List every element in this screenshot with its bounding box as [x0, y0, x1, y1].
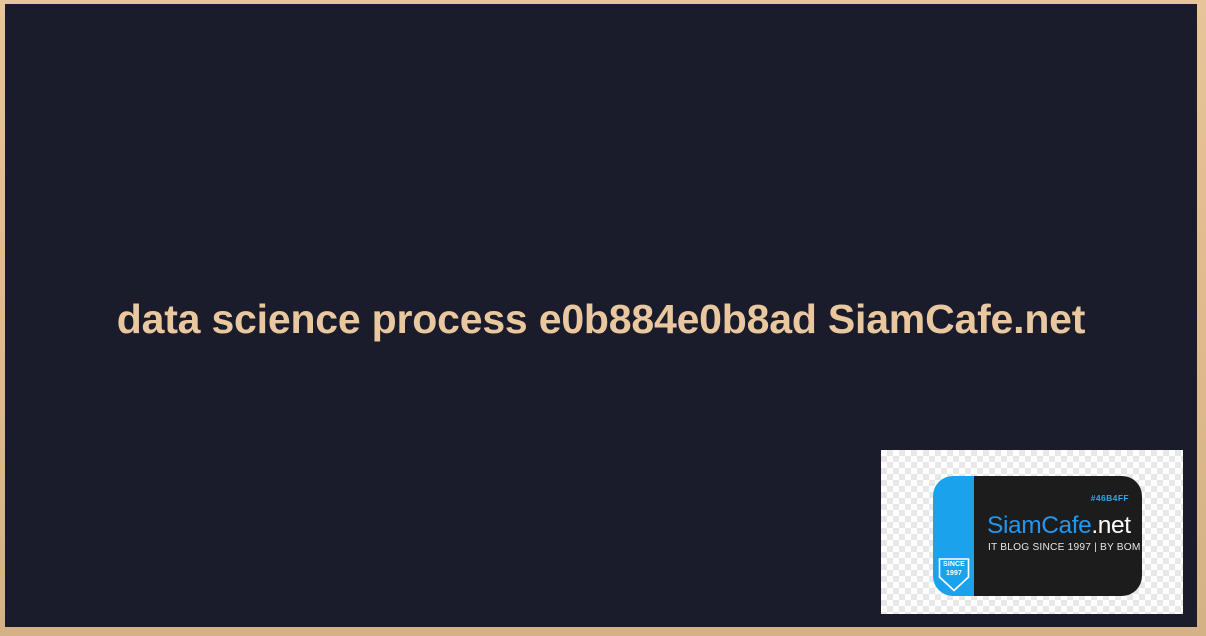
hex-color-label: #46B4FF: [1091, 493, 1129, 503]
content-stage: data science process e0b884e0b8ad SiamCa…: [5, 4, 1197, 627]
logo-body-card: #46B4FF SiamCafe.net IT BLOG SINCE 1997 …: [974, 476, 1142, 596]
wordmark-suffix: .net: [1091, 512, 1130, 539]
logo-accent-strip: SINCE 1997: [933, 476, 974, 596]
page-title: data science process e0b884e0b8ad SiamCa…: [5, 297, 1197, 341]
page-frame: data science process e0b884e0b8ad SiamCa…: [0, 0, 1206, 636]
siamcafe-logo-card: SINCE 1997 #46B4FF SiamCafe.net IT BLOG …: [933, 476, 1142, 596]
siamcafe-logo-image: SINCE 1997 #46B4FF SiamCafe.net IT BLOG …: [881, 450, 1183, 614]
badge-line-year: 1997: [946, 570, 962, 577]
logo-tagline: IT BLOG SINCE 1997 | BY BOM: [988, 542, 1141, 553]
badge-line-since: SINCE: [943, 561, 965, 568]
wordmark-primary: SiamCafe: [987, 512, 1091, 539]
badge-text-block: SINCE 1997: [938, 561, 970, 578]
logo-wordmark: SiamCafe.net: [987, 512, 1131, 540]
since-1997-badge: SINCE 1997: [938, 558, 970, 592]
